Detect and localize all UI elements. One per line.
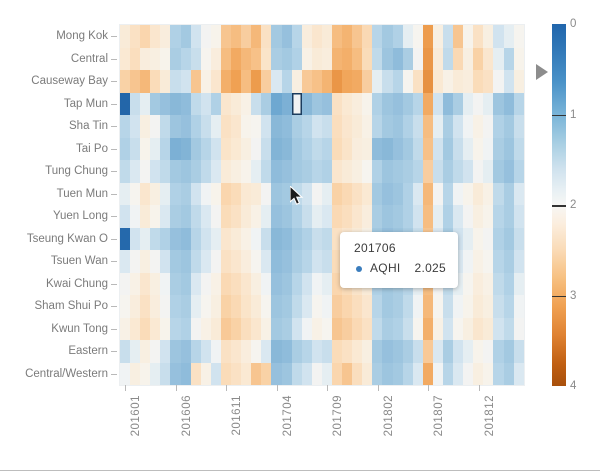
- heatmap-cell[interactable]: [181, 295, 191, 318]
- heatmap-cell[interactable]: [504, 70, 514, 93]
- heatmap-cell[interactable]: [150, 295, 160, 318]
- heatmap-cell[interactable]: [140, 115, 150, 138]
- heatmap-cell[interactable]: [211, 115, 221, 138]
- heatmap-cell[interactable]: [504, 340, 514, 363]
- heatmap-cell[interactable]: [251, 25, 261, 48]
- heatmap-cell[interactable]: [302, 205, 312, 228]
- heatmap-cell[interactable]: [514, 160, 524, 183]
- heatmap-cell[interactable]: [403, 70, 413, 93]
- heatmap-cell[interactable]: [140, 273, 150, 296]
- heatmap-cell[interactable]: [352, 138, 362, 161]
- heatmap-cell[interactable]: [261, 295, 271, 318]
- heatmap-cell[interactable]: [130, 228, 140, 251]
- heatmap-cell[interactable]: [372, 183, 382, 206]
- heatmap-cell[interactable]: [231, 93, 241, 116]
- heatmap-cell[interactable]: [453, 25, 463, 48]
- heatmap-cell[interactable]: [322, 250, 332, 273]
- heatmap-cell[interactable]: [493, 340, 503, 363]
- heatmap-cell[interactable]: [241, 183, 251, 206]
- heatmap-cell[interactable]: [382, 138, 392, 161]
- heatmap-cell[interactable]: [150, 250, 160, 273]
- heatmap-cell[interactable]: [362, 340, 372, 363]
- heatmap-cell[interactable]: [463, 340, 473, 363]
- heatmap-cell[interactable]: [302, 250, 312, 273]
- heatmap-cell[interactable]: [302, 295, 312, 318]
- heatmap-cell[interactable]: [150, 93, 160, 116]
- heatmap-cell[interactable]: [403, 318, 413, 341]
- heatmap-cell[interactable]: [211, 273, 221, 296]
- heatmap-cell[interactable]: [292, 115, 302, 138]
- heatmap-cell[interactable]: [302, 183, 312, 206]
- heatmap-cell[interactable]: [443, 295, 453, 318]
- heatmap-cell[interactable]: [433, 340, 443, 363]
- heatmap-cell[interactable]: [352, 295, 362, 318]
- heatmap-cell[interactable]: [403, 295, 413, 318]
- heatmap-cell[interactable]: [241, 25, 251, 48]
- heatmap-cell[interactable]: [271, 183, 281, 206]
- heatmap-cell[interactable]: [483, 273, 493, 296]
- heatmap-cell[interactable]: [393, 93, 403, 116]
- heatmap-cell[interactable]: [453, 138, 463, 161]
- heatmap-cell[interactable]: [292, 340, 302, 363]
- heatmap-cell[interactable]: [120, 115, 130, 138]
- heatmap-cell[interactable]: [362, 93, 372, 116]
- heatmap-cell[interactable]: [433, 115, 443, 138]
- heatmap-cell[interactable]: [201, 115, 211, 138]
- heatmap-cell[interactable]: [322, 205, 332, 228]
- heatmap-cell[interactable]: [221, 48, 231, 71]
- heatmap-cell[interactable]: [201, 138, 211, 161]
- heatmap-cell[interactable]: [473, 183, 483, 206]
- heatmap-cell[interactable]: [261, 138, 271, 161]
- heatmap-cell[interactable]: [221, 340, 231, 363]
- heatmap-cell[interactable]: [170, 295, 180, 318]
- heatmap-cell[interactable]: [140, 48, 150, 71]
- heatmap-cell[interactable]: [423, 70, 433, 93]
- heatmap-cell[interactable]: [130, 138, 140, 161]
- heatmap-cell[interactable]: [261, 93, 271, 116]
- heatmap-cell[interactable]: [382, 205, 392, 228]
- heatmap-cell[interactable]: [170, 250, 180, 273]
- heatmap-cell[interactable]: [191, 115, 201, 138]
- heatmap-cell[interactable]: [514, 250, 524, 273]
- heatmap-cell[interactable]: [282, 228, 292, 251]
- heatmap-cell[interactable]: [140, 318, 150, 341]
- heatmap-cell[interactable]: [130, 318, 140, 341]
- heatmap-cell[interactable]: [140, 93, 150, 116]
- heatmap-cell[interactable]: [514, 138, 524, 161]
- heatmap-cell[interactable]: [463, 205, 473, 228]
- heatmap-cell[interactable]: [191, 228, 201, 251]
- heatmap-cell[interactable]: [170, 115, 180, 138]
- heatmap-cell[interactable]: [372, 318, 382, 341]
- heatmap-cell[interactable]: [160, 93, 170, 116]
- heatmap-cell[interactable]: [191, 93, 201, 116]
- heatmap-cell[interactable]: [514, 318, 524, 341]
- heatmap-cell[interactable]: [231, 273, 241, 296]
- heatmap-cell[interactable]: [191, 340, 201, 363]
- heatmap-cell[interactable]: [403, 93, 413, 116]
- heatmap-cell[interactable]: [181, 48, 191, 71]
- heatmap-cell[interactable]: [473, 205, 483, 228]
- heatmap-cell[interactable]: [191, 183, 201, 206]
- heatmap-cell[interactable]: [433, 70, 443, 93]
- heatmap-cell[interactable]: [120, 183, 130, 206]
- heatmap-cell[interactable]: [322, 93, 332, 116]
- heatmap-cell[interactable]: [514, 70, 524, 93]
- heatmap-cell[interactable]: [342, 70, 352, 93]
- heatmap-cell[interactable]: [443, 160, 453, 183]
- heatmap-cell[interactable]: [271, 295, 281, 318]
- heatmap-cell[interactable]: [413, 93, 423, 116]
- heatmap-cell[interactable]: [382, 25, 392, 48]
- heatmap-cell[interactable]: [312, 318, 322, 341]
- heatmap-cell[interactable]: [120, 228, 130, 251]
- heatmap-cell[interactable]: [493, 70, 503, 93]
- heatmap-cell[interactable]: [514, 48, 524, 71]
- heatmap-cell[interactable]: [483, 183, 493, 206]
- heatmap-cell[interactable]: [463, 318, 473, 341]
- heatmap-cell[interactable]: [312, 138, 322, 161]
- heatmap-cell[interactable]: [514, 93, 524, 116]
- heatmap-cell[interactable]: [211, 183, 221, 206]
- heatmap-cell[interactable]: [413, 183, 423, 206]
- heatmap-cell[interactable]: [120, 273, 130, 296]
- heatmap-cell[interactable]: [473, 48, 483, 71]
- heatmap-cell[interactable]: [443, 48, 453, 71]
- heatmap-cell[interactable]: [130, 93, 140, 116]
- heatmap-cell[interactable]: [241, 318, 251, 341]
- heatmap-cell[interactable]: [251, 93, 261, 116]
- heatmap-cell[interactable]: [514, 25, 524, 48]
- heatmap-cell[interactable]: [221, 70, 231, 93]
- heatmap-cell[interactable]: [382, 318, 392, 341]
- heatmap-cell[interactable]: [302, 340, 312, 363]
- heatmap-cell[interactable]: [403, 115, 413, 138]
- heatmap-cell[interactable]: [170, 205, 180, 228]
- heatmap-cell[interactable]: [403, 183, 413, 206]
- heatmap-cell[interactable]: [150, 273, 160, 296]
- heatmap-cell[interactable]: [372, 205, 382, 228]
- heatmap-cell[interactable]: [312, 340, 322, 363]
- heatmap-cell[interactable]: [463, 183, 473, 206]
- heatmap-cell[interactable]: [231, 138, 241, 161]
- heatmap-cell[interactable]: [160, 250, 170, 273]
- heatmap-cell[interactable]: [312, 183, 322, 206]
- heatmap-cell[interactable]: [393, 160, 403, 183]
- heatmap-cell[interactable]: [403, 340, 413, 363]
- heatmap-cell[interactable]: [483, 70, 493, 93]
- heatmap-cell[interactable]: [271, 228, 281, 251]
- heatmap-cell[interactable]: [403, 363, 413, 386]
- heatmap-cell[interactable]: [493, 160, 503, 183]
- heatmap-cell[interactable]: [433, 318, 443, 341]
- heatmap-cell[interactable]: [120, 93, 130, 116]
- heatmap-cell[interactable]: [160, 138, 170, 161]
- heatmap-cell[interactable]: [352, 160, 362, 183]
- heatmap-cell[interactable]: [261, 340, 271, 363]
- heatmap-cell[interactable]: [160, 363, 170, 386]
- heatmap-cell[interactable]: [322, 340, 332, 363]
- heatmap-cell[interactable]: [514, 363, 524, 386]
- heatmap-cell[interactable]: [504, 25, 514, 48]
- heatmap-cell[interactable]: [372, 138, 382, 161]
- heatmap-cell[interactable]: [231, 183, 241, 206]
- heatmap-cell[interactable]: [352, 183, 362, 206]
- heatmap-cell[interactable]: [332, 160, 342, 183]
- heatmap-cell[interactable]: [211, 363, 221, 386]
- heatmap-cell[interactable]: [504, 273, 514, 296]
- heatmap-cell[interactable]: [463, 138, 473, 161]
- heatmap-cell[interactable]: [221, 363, 231, 386]
- heatmap-cell[interactable]: [181, 205, 191, 228]
- heatmap-cell[interactable]: [352, 70, 362, 93]
- heatmap-cell[interactable]: [493, 295, 503, 318]
- heatmap-cell[interactable]: [231, 115, 241, 138]
- heatmap-cell[interactable]: [191, 250, 201, 273]
- heatmap-cell[interactable]: [433, 295, 443, 318]
- heatmap-cell[interactable]: [231, 205, 241, 228]
- heatmap-cell[interactable]: [413, 25, 423, 48]
- heatmap-cell[interactable]: [463, 295, 473, 318]
- heatmap-cell[interactable]: [221, 250, 231, 273]
- heatmap-cell[interactable]: [211, 318, 221, 341]
- heatmap-cell[interactable]: [473, 295, 483, 318]
- heatmap-cell[interactable]: [443, 93, 453, 116]
- heatmap-cell[interactable]: [342, 115, 352, 138]
- heatmap-cell[interactable]: [181, 273, 191, 296]
- heatmap-cell[interactable]: [231, 70, 241, 93]
- heatmap-cell[interactable]: [211, 228, 221, 251]
- heatmap-cell[interactable]: [393, 25, 403, 48]
- heatmap-cell[interactable]: [150, 183, 160, 206]
- heatmap-cell[interactable]: [382, 183, 392, 206]
- heatmap-cell[interactable]: [241, 273, 251, 296]
- heatmap-cell[interactable]: [160, 273, 170, 296]
- heatmap-cell[interactable]: [403, 160, 413, 183]
- heatmap-cell[interactable]: [493, 318, 503, 341]
- heatmap-cell[interactable]: [393, 318, 403, 341]
- heatmap-cell[interactable]: [433, 25, 443, 48]
- heatmap-cell[interactable]: [241, 48, 251, 71]
- heatmap-cell[interactable]: [201, 295, 211, 318]
- heatmap-cell[interactable]: [160, 205, 170, 228]
- heatmap-cell[interactable]: [120, 205, 130, 228]
- heatmap-cell[interactable]: [473, 340, 483, 363]
- heatmap-cell[interactable]: [241, 93, 251, 116]
- heatmap-cell[interactable]: [463, 250, 473, 273]
- heatmap-cell[interactable]: [120, 295, 130, 318]
- heatmap-cell[interactable]: [332, 183, 342, 206]
- heatmap-cell[interactable]: [463, 48, 473, 71]
- heatmap-cell[interactable]: [160, 160, 170, 183]
- heatmap-cell[interactable]: [201, 25, 211, 48]
- heatmap-cell[interactable]: [413, 115, 423, 138]
- heatmap-cell[interactable]: [483, 25, 493, 48]
- heatmap-cell[interactable]: [140, 340, 150, 363]
- heatmap-cell[interactable]: [292, 318, 302, 341]
- heatmap-cell[interactable]: [382, 295, 392, 318]
- heatmap-cell[interactable]: [160, 228, 170, 251]
- heatmap-cell[interactable]: [483, 295, 493, 318]
- heatmap-cell[interactable]: [211, 205, 221, 228]
- heatmap-cell[interactable]: [453, 295, 463, 318]
- heatmap-cell[interactable]: [413, 70, 423, 93]
- heatmap-cell[interactable]: [473, 138, 483, 161]
- heatmap-cell[interactable]: [170, 93, 180, 116]
- heatmap-cell[interactable]: [150, 115, 160, 138]
- heatmap-cell[interactable]: [201, 340, 211, 363]
- heatmap-cell[interactable]: [332, 340, 342, 363]
- heatmap-cell[interactable]: [160, 48, 170, 71]
- heatmap-cell[interactable]: [181, 340, 191, 363]
- heatmap-cell[interactable]: [453, 363, 463, 386]
- heatmap-cell[interactable]: [463, 228, 473, 251]
- heatmap-cell[interactable]: [493, 205, 503, 228]
- heatmap-cell[interactable]: [332, 70, 342, 93]
- heatmap-cell[interactable]: [170, 228, 180, 251]
- heatmap-cell[interactable]: [241, 160, 251, 183]
- heatmap-cell[interactable]: [251, 115, 261, 138]
- heatmap-cell[interactable]: [282, 363, 292, 386]
- heatmap-cell[interactable]: [170, 183, 180, 206]
- heatmap-cell[interactable]: [362, 138, 372, 161]
- heatmap-cell[interactable]: [251, 363, 261, 386]
- heatmap-cell[interactable]: [170, 273, 180, 296]
- heatmap-cell[interactable]: [352, 93, 362, 116]
- heatmap-cell[interactable]: [201, 48, 211, 71]
- heatmap-cell[interactable]: [463, 25, 473, 48]
- heatmap-cell[interactable]: [160, 115, 170, 138]
- heatmap-cell[interactable]: [160, 340, 170, 363]
- heatmap-cell[interactable]: [362, 25, 372, 48]
- heatmap-cell[interactable]: [483, 93, 493, 116]
- heatmap-cell[interactable]: [130, 160, 140, 183]
- heatmap-cell[interactable]: [433, 205, 443, 228]
- heatmap-cell[interactable]: [463, 363, 473, 386]
- heatmap-cell[interactable]: [160, 183, 170, 206]
- heatmap-cell[interactable]: [342, 340, 352, 363]
- heatmap-cell[interactable]: [332, 93, 342, 116]
- heatmap-cell[interactable]: [302, 273, 312, 296]
- heatmap-cell[interactable]: [130, 273, 140, 296]
- heatmap-cell[interactable]: [282, 48, 292, 71]
- heatmap-cell[interactable]: [130, 48, 140, 71]
- heatmap-cell[interactable]: [453, 115, 463, 138]
- heatmap-cell[interactable]: [453, 340, 463, 363]
- heatmap-cell[interactable]: [322, 318, 332, 341]
- heatmap-cell[interactable]: [140, 160, 150, 183]
- heatmap-cell[interactable]: [453, 318, 463, 341]
- heatmap-cell[interactable]: [130, 340, 140, 363]
- heatmap-cell[interactable]: [312, 115, 322, 138]
- heatmap-cell[interactable]: [493, 250, 503, 273]
- heatmap-cell[interactable]: [251, 205, 261, 228]
- heatmap-cell[interactable]: [261, 228, 271, 251]
- heatmap-cell[interactable]: [332, 205, 342, 228]
- heatmap-cell[interactable]: [423, 25, 433, 48]
- heatmap-cell[interactable]: [302, 160, 312, 183]
- heatmap-cell[interactable]: [362, 48, 372, 71]
- heatmap-cell[interactable]: [282, 205, 292, 228]
- heatmap-cell[interactable]: [382, 160, 392, 183]
- heatmap-cell[interactable]: [181, 93, 191, 116]
- heatmap-cell[interactable]: [231, 295, 241, 318]
- heatmap-cell[interactable]: [332, 363, 342, 386]
- heatmap-cell[interactable]: [130, 295, 140, 318]
- heatmap-cell[interactable]: [504, 48, 514, 71]
- heatmap-cell[interactable]: [261, 115, 271, 138]
- heatmap-cell[interactable]: [201, 318, 211, 341]
- heatmap-cell[interactable]: [403, 138, 413, 161]
- heatmap-cell[interactable]: [251, 70, 261, 93]
- heatmap-cell[interactable]: [433, 138, 443, 161]
- heatmap-cell[interactable]: [261, 48, 271, 71]
- heatmap-cell[interactable]: [282, 340, 292, 363]
- heatmap-cell[interactable]: [514, 273, 524, 296]
- heatmap-cell[interactable]: [150, 25, 160, 48]
- heatmap-cell[interactable]: [221, 115, 231, 138]
- heatmap-cell[interactable]: [150, 138, 160, 161]
- heatmap-cell[interactable]: [403, 48, 413, 71]
- heatmap-cell[interactable]: [443, 340, 453, 363]
- heatmap-cell[interactable]: [292, 183, 302, 206]
- heatmap-cell[interactable]: [443, 363, 453, 386]
- heatmap-cell[interactable]: [473, 70, 483, 93]
- heatmap-cell[interactable]: [342, 295, 352, 318]
- heatmap-cell[interactable]: [332, 318, 342, 341]
- heatmap-cell[interactable]: [211, 295, 221, 318]
- heatmap-cell[interactable]: [493, 48, 503, 71]
- heatmap-cell[interactable]: [271, 340, 281, 363]
- heatmap-cell[interactable]: [342, 48, 352, 71]
- heatmap-cell[interactable]: [443, 205, 453, 228]
- heatmap-cell[interactable]: [332, 25, 342, 48]
- heatmap-cell[interactable]: [231, 228, 241, 251]
- heatmap-cell[interactable]: [271, 70, 281, 93]
- heatmap-cell[interactable]: [170, 318, 180, 341]
- heatmap-cell[interactable]: [342, 93, 352, 116]
- heatmap-cell[interactable]: [181, 138, 191, 161]
- heatmap-cell[interactable]: [413, 138, 423, 161]
- heatmap-cell[interactable]: [423, 340, 433, 363]
- heatmap-cell[interactable]: [413, 340, 423, 363]
- heatmap-cell[interactable]: [372, 340, 382, 363]
- heatmap-cell[interactable]: [332, 115, 342, 138]
- heatmap-cell[interactable]: [120, 160, 130, 183]
- heatmap-cell[interactable]: [120, 48, 130, 71]
- heatmap-cell[interactable]: [493, 363, 503, 386]
- heatmap-cell[interactable]: [191, 25, 201, 48]
- heatmap-cell[interactable]: [423, 138, 433, 161]
- heatmap-cell[interactable]: [372, 115, 382, 138]
- heatmap-cell[interactable]: [504, 250, 514, 273]
- heatmap-cell[interactable]: [463, 70, 473, 93]
- heatmap-cell[interactable]: [302, 25, 312, 48]
- heatmap-cell[interactable]: [170, 138, 180, 161]
- heatmap-cell[interactable]: [514, 205, 524, 228]
- heatmap-cell[interactable]: [191, 48, 201, 71]
- heatmap-cell[interactable]: [514, 228, 524, 251]
- heatmap-cell[interactable]: [160, 70, 170, 93]
- heatmap-cell[interactable]: [140, 138, 150, 161]
- heatmap-cell[interactable]: [150, 205, 160, 228]
- heatmap-cell[interactable]: [181, 250, 191, 273]
- heatmap-cell[interactable]: [393, 115, 403, 138]
- heatmap-cell[interactable]: [191, 295, 201, 318]
- heatmap-cell[interactable]: [120, 363, 130, 386]
- heatmap-cell[interactable]: [251, 273, 261, 296]
